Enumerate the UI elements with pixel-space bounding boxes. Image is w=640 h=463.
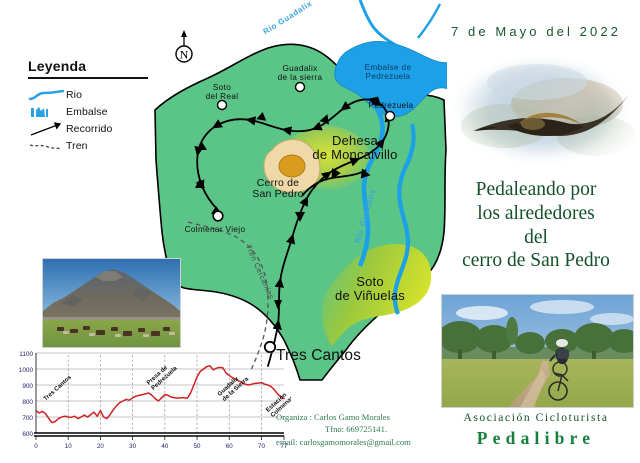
embalse-line1: Embalse de [365, 63, 412, 72]
map-label-tres-cantos: Tres Cantos [276, 348, 386, 364]
svg-text:1100: 1100 [19, 351, 33, 358]
svg-text:600: 600 [22, 431, 33, 438]
legend-item-embalse: Embalse [28, 104, 158, 121]
legend-divider [28, 77, 148, 79]
event-date: 7 de Mayo del 2022 [432, 24, 640, 39]
legend-label-rio: Rio [66, 89, 82, 101]
legend: Leyenda Rio Embalse [28, 58, 158, 155]
map-label-soto-vinuelas: Soto de Viñuelas [315, 275, 425, 303]
svg-text:700: 700 [22, 415, 33, 422]
contact-phone: Tfno: 669725141. [276, 423, 436, 435]
legend-label-recorrido: Recorrido [66, 123, 112, 135]
elevation-profile-chart: 6007008009001000110001020304050607077Tre… [6, 345, 291, 457]
svg-text:800: 800 [22, 399, 33, 406]
title-line-1: Pedaleando por [430, 178, 640, 202]
map-label-dehesa-moncalvillo: Dehesa de Moncalvillo [290, 134, 420, 162]
title-line-4: cerro de San Pedro [430, 249, 640, 273]
svg-text:30: 30 [129, 443, 136, 450]
contact-block: Organiza : Carlos Gamo Morales Tfno: 669… [276, 411, 436, 448]
right-panel: 7 de Mayo del 2022 Pedaleando por los al… [432, 0, 640, 463]
soto-vin-line1: Soto [356, 274, 384, 289]
route-arrow-icon [28, 122, 66, 137]
poster-root: Leyenda Rio Embalse [0, 0, 640, 463]
train-dashed-icon [28, 139, 66, 154]
embalse-line2: Pedrezuela [366, 72, 411, 81]
map-label-soto-del-real: Soto del Real [188, 84, 256, 101]
legend-item-rio: Rio [28, 87, 158, 104]
svg-text:40: 40 [161, 443, 168, 450]
soto-vin-line2: de Viñuelas [335, 288, 405, 303]
dehesa-line2: de Moncalvillo [312, 147, 397, 162]
svg-text:50: 50 [194, 443, 201, 450]
reservoir-icon [28, 105, 66, 120]
map-label-cerro-san-pedro: Cerro de San Pedro [228, 178, 328, 200]
svg-text:10: 10 [65, 443, 72, 450]
cerro-line2: San Pedro [252, 188, 303, 200]
svg-text:20: 20 [97, 443, 104, 450]
mountain-cattle-photo [42, 258, 181, 348]
river-line-icon [28, 88, 66, 103]
svg-text:60: 60 [226, 443, 233, 450]
association-name: Asociación Cicloturista [432, 412, 640, 424]
legend-item-tren: Tren [28, 138, 158, 155]
legend-label-tren: Tren [66, 140, 88, 152]
guadalix-line1: Guadalix [282, 64, 317, 73]
soto-real-line2: del Real [206, 92, 239, 101]
dehesa-line1: Dehesa [332, 133, 378, 148]
guadalix-line2: de la sierra [278, 73, 323, 82]
legend-item-recorrido: Recorrido [28, 121, 158, 138]
route-map: Río Guadalix Río Guadalix Embalse de Ped… [150, 0, 450, 390]
contact-email: email: carlosgamomorales@gmail.com [276, 436, 436, 448]
svg-text:0: 0 [34, 443, 38, 450]
poster-title: Pedaleando por los alrededores del cerro… [430, 178, 640, 273]
elevation-profile-svg: 6007008009001000110001020304050607077Tre… [6, 345, 291, 457]
svg-text:900: 900 [22, 383, 33, 390]
soto-real-line1: Soto [213, 83, 231, 92]
map-label-pedrezuela: Pedrezuela [358, 102, 424, 111]
map-label-guadalix-de-la-sierra: Guadalix de la sierra [260, 65, 340, 82]
title-line-2: los alrededores [430, 202, 640, 226]
svg-text:70: 70 [258, 443, 265, 450]
title-line-3: del [430, 226, 640, 250]
svg-text:1000: 1000 [19, 367, 34, 374]
map-label-embalse-pedrezuela: Embalse de Pedrezuela [343, 64, 433, 81]
legend-title: Leyenda [28, 58, 158, 76]
map-label-colmenar-viejo: Colmenar Viejo [165, 226, 265, 235]
svg-text:Tres Cantos: Tres Cantos [42, 374, 73, 403]
contact-organizer: Organiza : Carlos Gamo Morales [276, 411, 436, 423]
association-brand: Pedalibre [432, 428, 640, 449]
legend-label-embalse: Embalse [66, 106, 108, 118]
